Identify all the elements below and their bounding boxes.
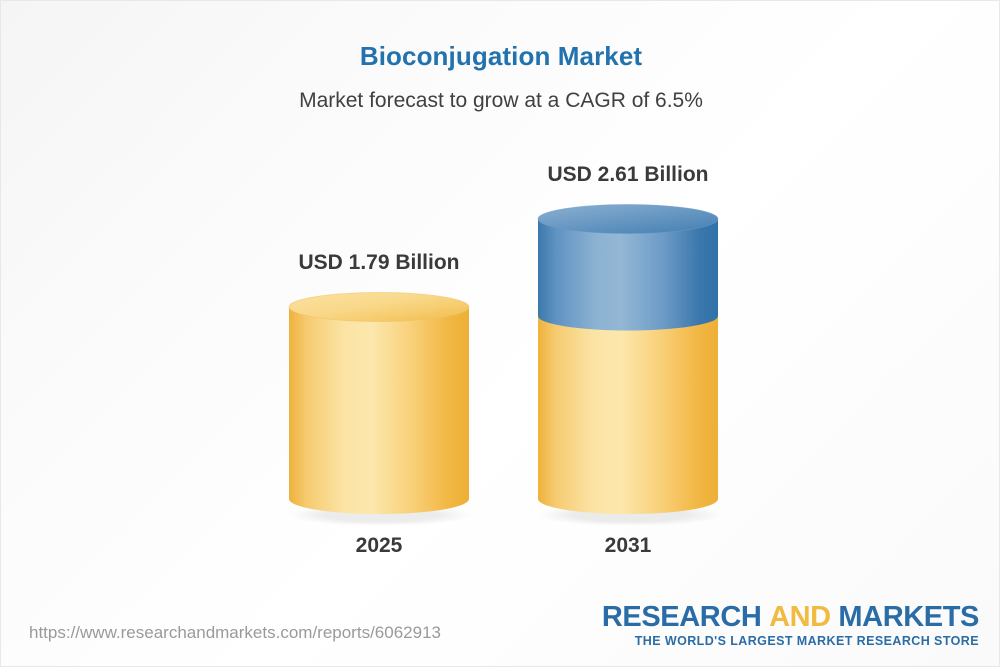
source-url-link[interactable]: https://www.researchandmarkets.com/repor… [29, 623, 441, 643]
plot-area: USD 1.79 Billion [1, 1, 1000, 601]
bar-cylinder-2025[interactable] [283, 289, 475, 525]
category-label-2031: 2031 [528, 534, 728, 558]
chart-canvas: Bioconjugation Market Market forecast to… [0, 0, 1000, 667]
bar-cylinder-2031[interactable] [532, 201, 724, 525]
brand-word-and: AND [769, 601, 831, 633]
brand-wordmark: RESEARCH AND MARKETS [602, 602, 979, 632]
category-label-2025: 2025 [279, 534, 479, 558]
brand-tagline: THE WORLD'S LARGEST MARKET RESEARCH STOR… [602, 634, 979, 648]
brand-word-research: RESEARCH [602, 601, 762, 633]
value-label-2025: USD 1.79 Billion [279, 251, 479, 275]
brand-word-markets: MARKETS [838, 601, 979, 633]
brand-logo[interactable]: RESEARCH AND MARKETS THE WORLD'S LARGEST… [602, 602, 979, 648]
value-label-2031: USD 2.61 Billion [528, 163, 728, 187]
